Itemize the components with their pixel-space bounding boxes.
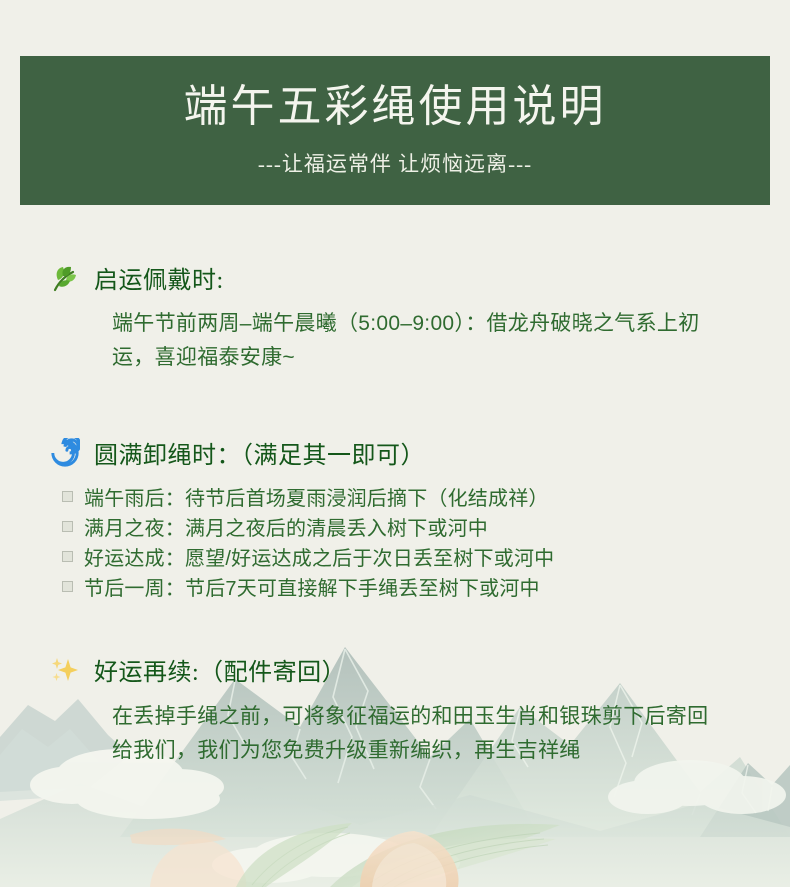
section-wearing-time: 启运佩戴时: 端午节前两周–端午晨曦（5:00–9:00）：借龙舟破晓之气系上初… xyxy=(0,260,790,375)
list-item: 端午雨后：待节后首场夏雨浸润后摘下（化结成祥） xyxy=(62,484,790,514)
list-item-label: 端午雨后：待节后首场夏雨浸润后摘下（化结成祥） xyxy=(84,489,549,509)
section-header: 圆满卸绳时：（满足其一即可） xyxy=(0,435,790,470)
section-header: 好运再续:（配件寄回） xyxy=(0,652,790,687)
content-area: 启运佩戴时: 端午节前两周–端午晨曦（5:00–9:00）：借龙舟破晓之气系上初… xyxy=(0,205,790,768)
bullet-square-icon xyxy=(62,551,73,562)
list-item-label: 节后一周：节后7天可直接解下手绳丢至树下或河中 xyxy=(84,579,540,599)
list-item-label: 满月之夜：满月之夜后的清晨丢入树下或河中 xyxy=(84,519,488,539)
header-banner: 端午五彩绳使用说明 ---让福运常伴 让烦恼远离--- xyxy=(20,56,770,205)
section-return-accessories: 好运再续:（配件寄回） 在丢掉手绳之前，可将象征福运的和田玉生肖和银珠剪下后寄回… xyxy=(0,652,790,768)
removal-condition-list: 端午雨后：待节后首场夏雨浸润后摘下（化结成祥） 满月之夜：满月之夜后的清晨丢入树… xyxy=(0,484,790,604)
page-subtitle: ---让福运常伴 让烦恼远离--- xyxy=(258,148,532,178)
herb-leaf-icon xyxy=(48,261,82,295)
page-title: 端午五彩绳使用说明 xyxy=(184,83,607,131)
list-item: 节后一周：节后7天可直接解下手绳丢至树下或河中 xyxy=(62,574,790,604)
section-removal-time: 圆满卸绳时：（满足其一即可） 端午雨后：待节后首场夏雨浸润后摘下（化结成祥） 满… xyxy=(0,435,790,604)
section-title: 圆满卸绳时：（满足其一即可） xyxy=(94,435,425,470)
bullet-square-icon xyxy=(62,581,73,592)
sparkles-icon xyxy=(48,653,82,687)
section-body-text: 在丢掉手绳之前，可将象征福运的和田玉生肖和银珠剪下后寄回给我们，我们为您免费升级… xyxy=(0,700,790,768)
list-item-label: 好运达成：愿望/好运达成之后于次日丢至树下或河中 xyxy=(84,549,554,569)
section-title: 好运再续:（配件寄回） xyxy=(94,652,346,687)
list-item: 满月之夜：满月之夜后的清晨丢入树下或河中 xyxy=(62,514,790,544)
cyclone-spiral-icon xyxy=(48,436,82,470)
list-item: 好运达成：愿望/好运达成之后于次日丢至树下或河中 xyxy=(62,544,790,574)
instruction-card-page: 端午五彩绳使用说明 ---让福运常伴 让烦恼远离--- 启运佩戴时: 端午节前两… xyxy=(0,0,790,887)
bullet-square-icon xyxy=(62,521,73,532)
section-title: 启运佩戴时: xyxy=(94,260,224,295)
section-header: 启运佩戴时: xyxy=(0,260,790,295)
section-body-text: 端午节前两周–端午晨曦（5:00–9:00）：借龙舟破晓之气系上初运，喜迎福泰安… xyxy=(0,307,790,375)
bullet-square-icon xyxy=(62,491,73,502)
